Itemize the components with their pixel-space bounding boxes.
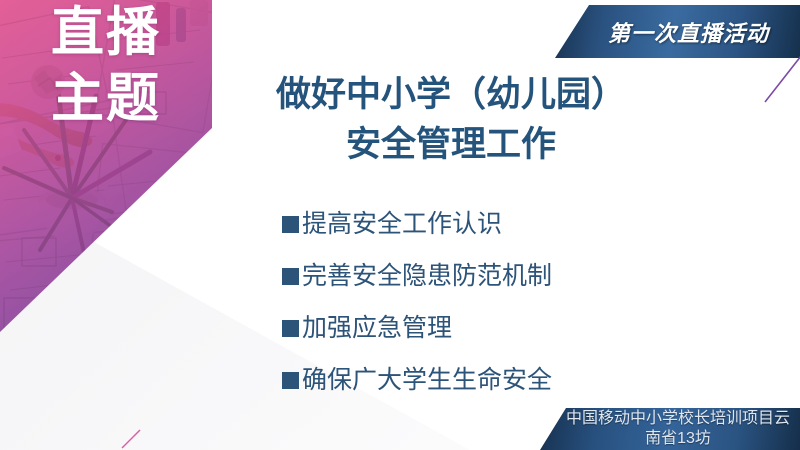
square-bullet-icon xyxy=(282,372,299,389)
square-bullet-icon xyxy=(282,320,299,337)
list-item: 加强应急管理 xyxy=(282,302,712,354)
list-item: 提高安全工作认识 xyxy=(282,198,712,250)
page-title: 做好中小学（幼儿园） 安全管理工作 xyxy=(236,70,666,169)
list-item-label: 完善安全隐患防范机制 xyxy=(302,264,552,289)
list-item-label: 加强应急管理 xyxy=(302,316,452,341)
purple-accent-line-icon xyxy=(755,52,800,108)
list-item-label: 确保广大学生生命安全 xyxy=(302,368,552,393)
slide-canvas: 直播 主题 第一次直播活动 做好中小学（幼儿园） 安全管理工作 提高安全工作认识… xyxy=(0,0,800,450)
list-item: 确保广大学生生命安全 xyxy=(282,354,712,406)
program-footer-ribbon: 中国移动中小学校长培训项目云南省13坊 xyxy=(540,408,800,450)
pink-accent-tick-icon xyxy=(118,428,144,450)
program-footer-label: 中国移动中小学校长培训项目云南省13坊 xyxy=(540,409,800,448)
session-ribbon-label: 第一次直播活动 xyxy=(586,16,769,48)
key-points-list: 提高安全工作认识 完善安全隐患防范机制 加强应急管理 确保广大学生生命安全 xyxy=(282,198,712,406)
square-bullet-icon xyxy=(282,268,299,285)
session-ribbon: 第一次直播活动 xyxy=(555,5,800,58)
list-item: 完善安全隐患防范机制 xyxy=(282,250,712,302)
page-title-line-2: 安全管理工作 xyxy=(236,120,666,170)
list-item-label: 提高安全工作认识 xyxy=(302,212,502,237)
page-title-line-1: 做好中小学（幼儿园） xyxy=(236,70,666,120)
square-bullet-icon xyxy=(282,216,299,233)
